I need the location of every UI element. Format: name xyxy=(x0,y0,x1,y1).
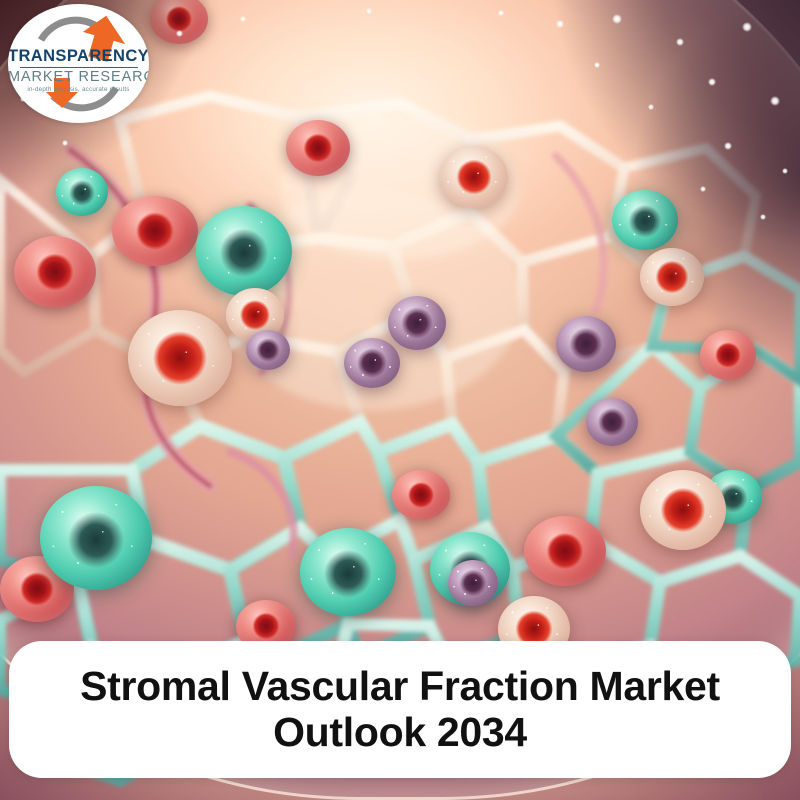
logo-inner: TRANSPARENCY MARKET RESEARCH in-depth an… xyxy=(8,4,149,123)
report-title-card: Stromal Vascular Fraction Market Outlook… xyxy=(9,641,791,778)
logo-wordmark: TRANSPARENCY MARKET RESEARCH in-depth an… xyxy=(8,48,149,93)
logo-tagline: in-depth analysis, accurate results xyxy=(8,87,149,93)
logo-line-1: TRANSPARENCY xyxy=(8,48,149,65)
logo-badge[interactable]: TRANSPARENCY MARKET RESEARCH in-depth an… xyxy=(8,4,149,123)
logo-divider xyxy=(20,67,138,68)
logo-line-2: MARKET RESEARCH xyxy=(8,70,149,85)
page-title: Stromal Vascular Fraction Market Outlook… xyxy=(9,664,791,756)
cover-image: TRANSPARENCY MARKET RESEARCH in-depth an… xyxy=(0,0,800,800)
